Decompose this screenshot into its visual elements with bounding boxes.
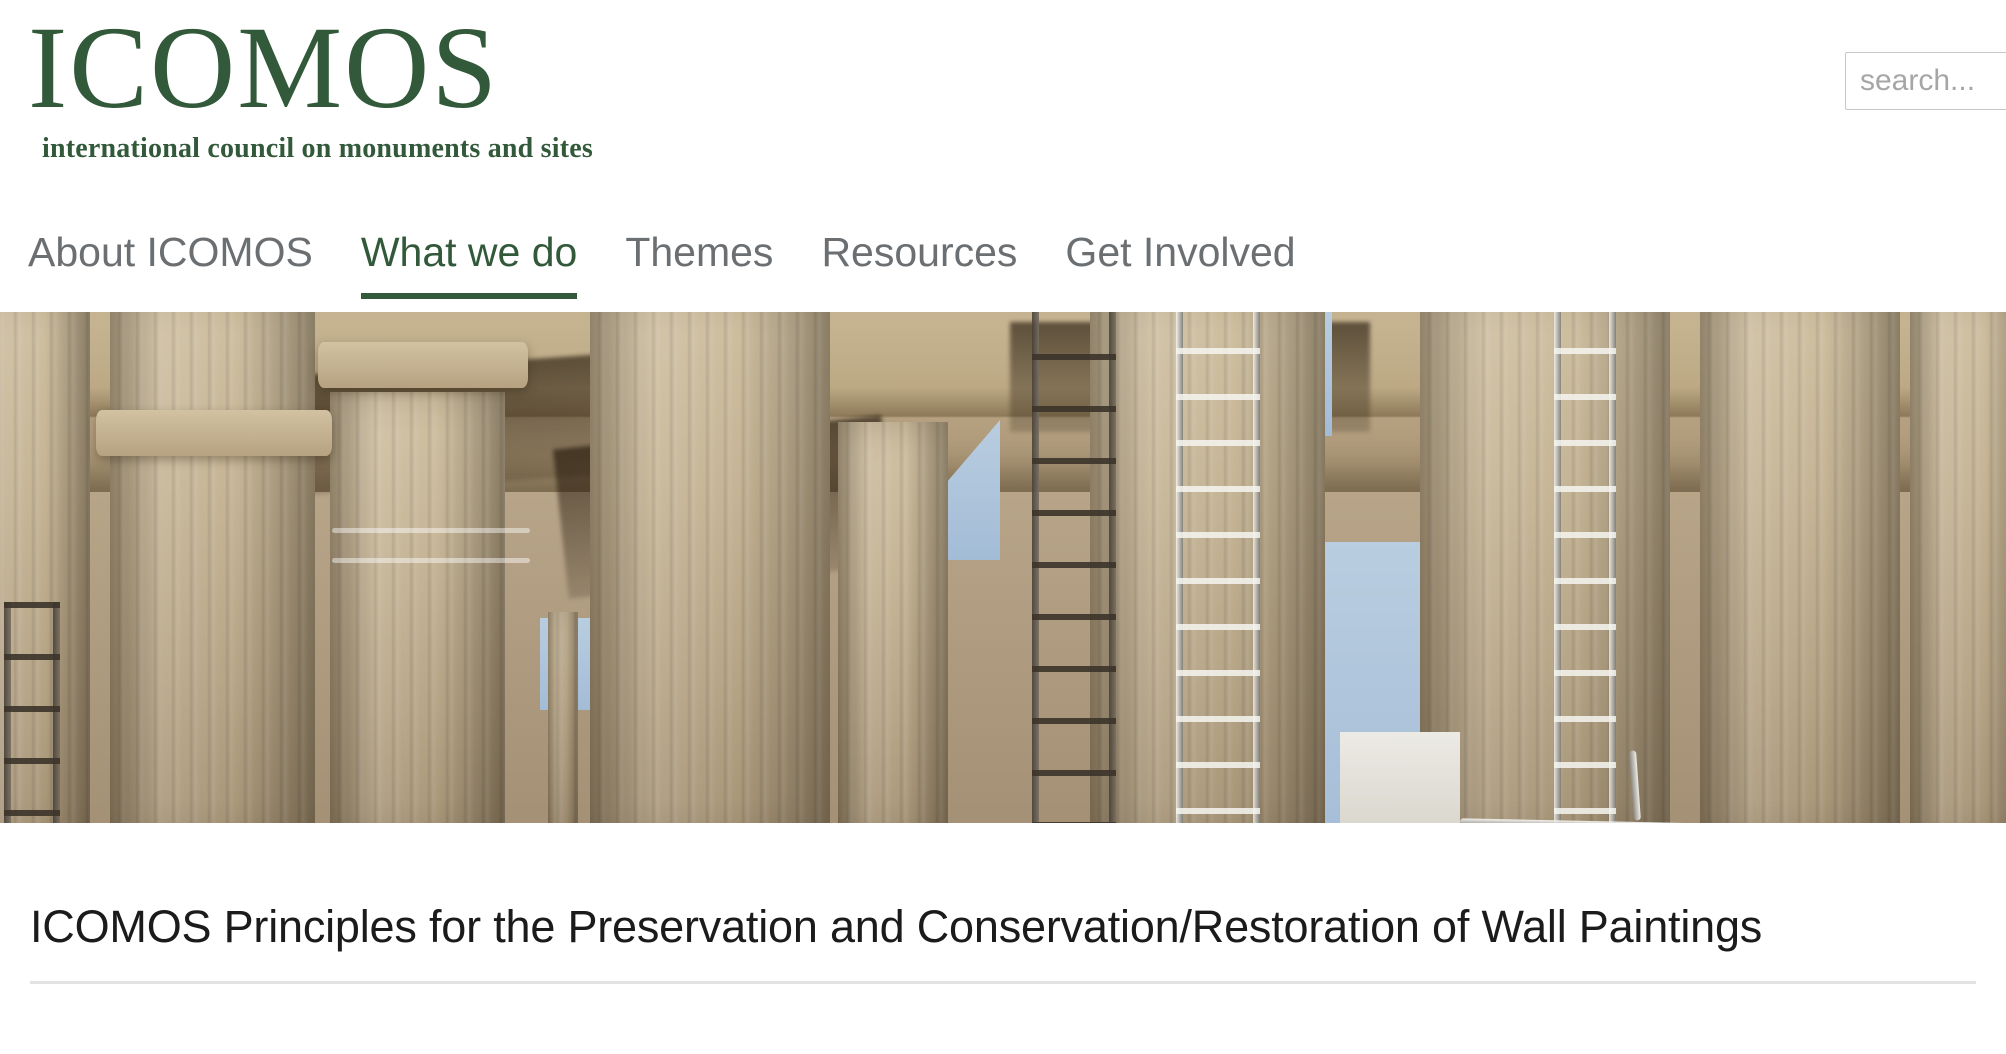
hero-scaffold-light-2 bbox=[1550, 312, 1620, 823]
title-divider bbox=[30, 981, 1976, 984]
hero-column-6 bbox=[838, 422, 948, 823]
hero-column-2 bbox=[110, 312, 315, 823]
logo-wordmark: ICOMOS bbox=[28, 8, 728, 128]
hero-scaffold-light-1 bbox=[1172, 312, 1264, 823]
hero-column-3 bbox=[330, 392, 505, 823]
main-content: ICOMOS Principles for the Preservation a… bbox=[0, 823, 2006, 984]
hero-scaffold-dark-2 bbox=[0, 602, 64, 823]
page-title: ICOMOS Principles for the Preservation a… bbox=[30, 901, 1976, 953]
hero-column-9 bbox=[1700, 312, 1900, 823]
site-header: ICOMOS international council on monument… bbox=[0, 0, 2006, 312]
search-container bbox=[1845, 52, 2006, 110]
nav-item-get-involved[interactable]: Get Involved bbox=[1065, 232, 1295, 299]
hero-capital-2 bbox=[318, 342, 528, 388]
hero-photo bbox=[0, 312, 2006, 823]
hero-column-band-2 bbox=[332, 558, 530, 563]
hero-banner-image bbox=[0, 312, 2006, 823]
nav-item-resources[interactable]: Resources bbox=[821, 232, 1017, 299]
nav-item-themes[interactable]: Themes bbox=[625, 232, 773, 299]
hero-column-band-1 bbox=[332, 528, 530, 533]
hero-column-5 bbox=[590, 312, 830, 823]
main-navigation: About ICOMOS What we do Themes Resources… bbox=[0, 232, 2006, 312]
page-root: ICOMOS international council on monument… bbox=[0, 0, 2006, 1054]
search-input[interactable] bbox=[1845, 52, 2006, 110]
nav-item-about-icomos[interactable]: About ICOMOS bbox=[28, 232, 313, 299]
site-logo[interactable]: ICOMOS international council on monument… bbox=[28, 8, 728, 165]
hero-scaffold-dark-1 bbox=[1028, 312, 1120, 823]
hero-column-10 bbox=[1910, 312, 2006, 823]
hero-column-4 bbox=[548, 612, 578, 823]
logo-tagline: international council on monuments and s… bbox=[42, 134, 728, 165]
hero-capital-1 bbox=[96, 410, 332, 456]
nav-item-what-we-do[interactable]: What we do bbox=[361, 232, 578, 299]
hero-background-building bbox=[1340, 732, 1460, 823]
